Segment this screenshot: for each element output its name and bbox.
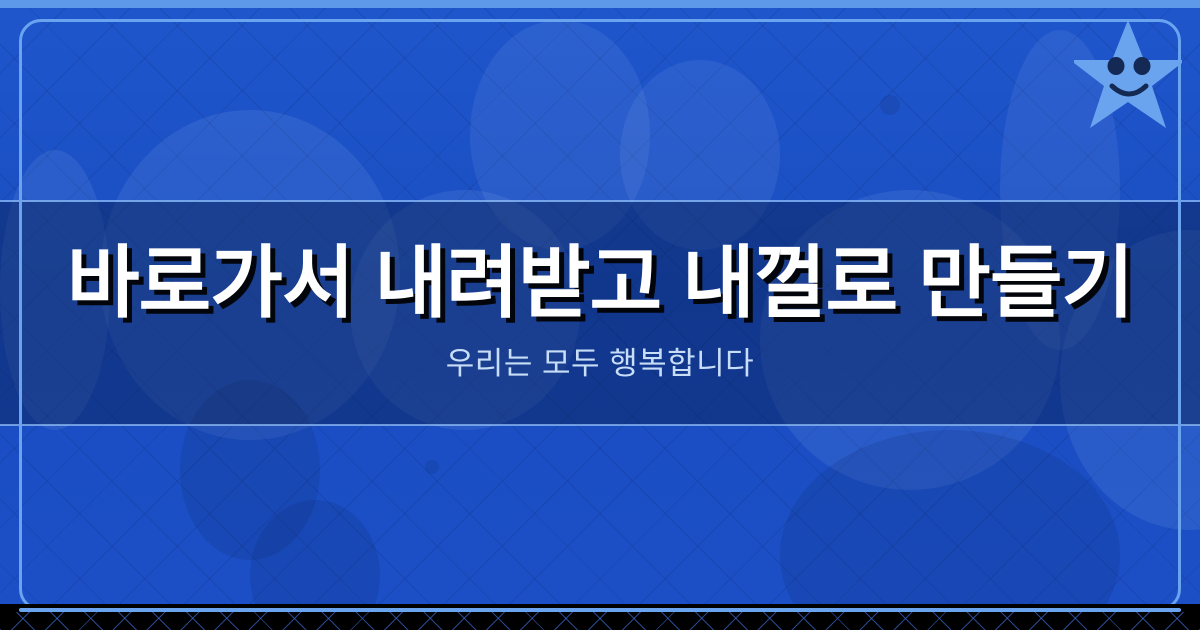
banner-canvas: 바로가서 내려받고 내껄로 만들기 우리는 모두 행복합니다	[0, 0, 1200, 630]
bottom-hairline	[19, 608, 1181, 612]
smiling-star-icon	[1074, 18, 1182, 130]
bottom-zigzag-pattern	[0, 612, 1200, 630]
top-accent-strip	[0, 0, 1200, 8]
headline-text: 바로가서 내려받고 내껄로 만들기	[61, 243, 1139, 324]
bokeh-circle-12	[880, 95, 900, 115]
text-block: 바로가서 내려받고 내껄로 만들기 우리는 모두 행복합니다	[0, 200, 1200, 426]
bokeh-circle-13	[425, 460, 439, 474]
subline-text: 우리는 모두 행복합니다	[446, 338, 754, 383]
